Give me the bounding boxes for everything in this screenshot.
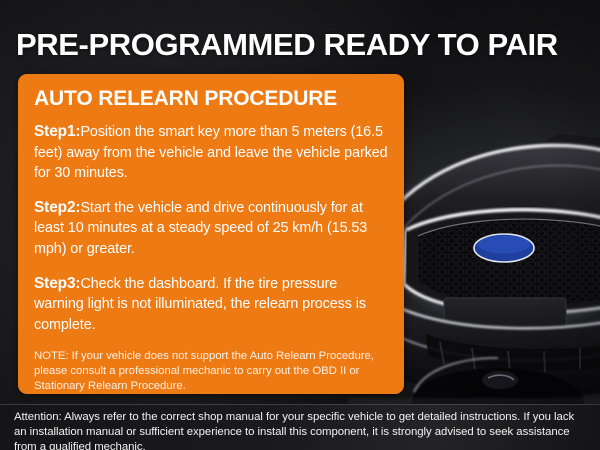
panel-heading: AUTO RELEARN PROCEDURE <box>34 86 388 112</box>
footer-attention-text: Attention: Always refer to the correct s… <box>14 410 588 450</box>
auto-relearn-panel: AUTO RELEARN PROCEDURE Step1:Position th… <box>18 74 404 394</box>
title-bar: PRE-PROGRAMMED READY TO PAIR <box>0 0 600 74</box>
step-3-text: Check the dashboard. If the tire pressur… <box>34 276 366 333</box>
footer-bar: Attention: Always refer to the correct s… <box>0 404 600 450</box>
step-1-label: Step1: <box>34 123 80 140</box>
step-1: Step1:Position the smart key more than 5… <box>34 122 388 184</box>
step-1-text: Position the smart key more than 5 meter… <box>34 124 388 181</box>
page-title: PRE-PROGRAMMED READY TO PAIR <box>16 27 558 63</box>
step-2-text: Start the vehicle and drive continuously… <box>34 200 367 257</box>
step-2: Step2:Start the vehicle and drive contin… <box>34 198 388 260</box>
step-3: Step3:Check the dashboard. If the tire p… <box>34 274 388 336</box>
step-2-label: Step2: <box>34 199 80 216</box>
product-info-banner: PRE-PROGRAMMED READY TO PAIR AUTO RELEAR… <box>0 0 600 450</box>
step-3-label: Step3: <box>34 275 80 292</box>
panel-note: NOTE: If your vehicle does not support t… <box>34 349 388 394</box>
